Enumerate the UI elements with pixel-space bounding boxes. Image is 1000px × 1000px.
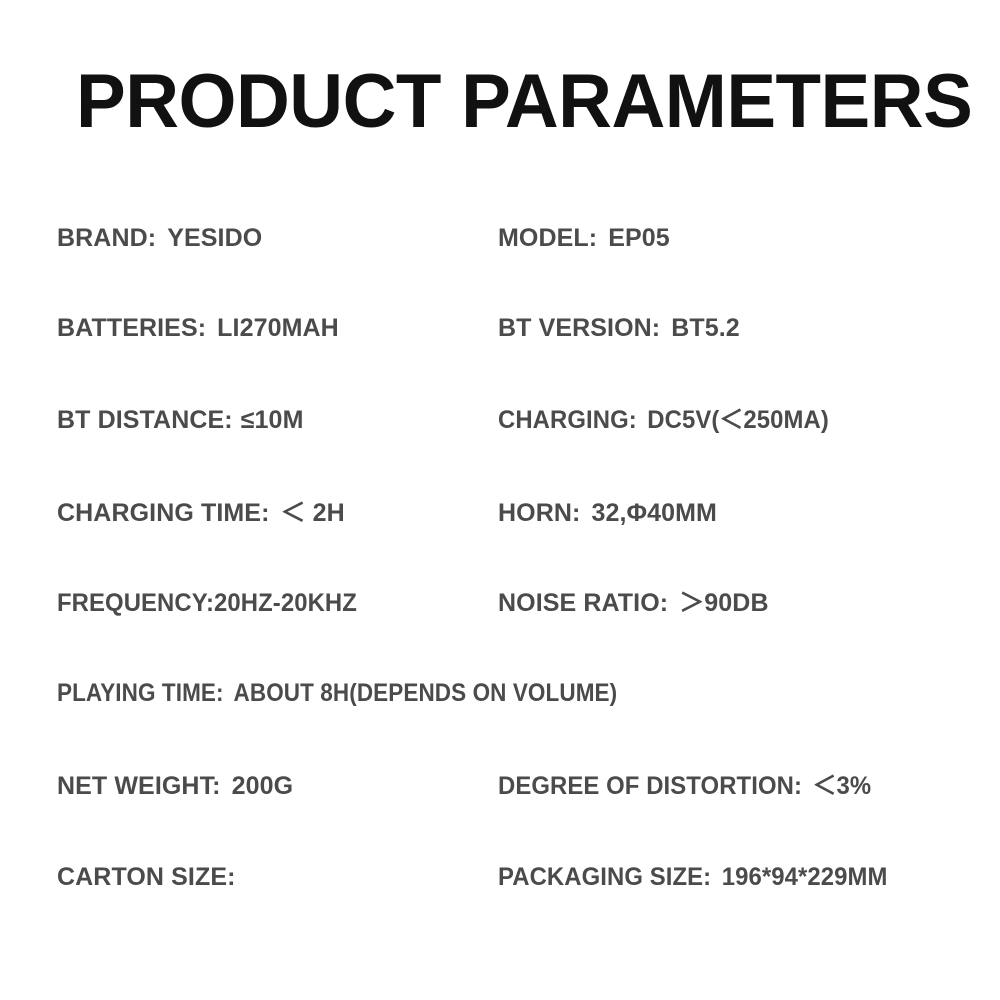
spec-value: ABOUT 8H(DEPENDS ON VOLUME) — [234, 671, 618, 715]
product-parameters-page: PRODUCT PARAMETERS BRAND: YESIDO MODEL: … — [0, 0, 1000, 1000]
spec-list: BRAND: YESIDO MODEL: EP05 BATTERIES: LI2… — [0, 198, 1000, 938]
spec-row: CHARGING TIME: ＜ 2H HORN: 32,Φ40MM — [0, 491, 1000, 535]
spec-label: CHARGING: — [498, 398, 637, 442]
spec-row: BT DISTANCE: ≤10M CHARGING: DC5V(＜250MA) — [0, 398, 1000, 442]
page-title: PRODUCT PARAMETERS — [76, 64, 954, 140]
spec-value: 196*94*229MM — [722, 855, 888, 899]
spec-item-bt-version: BT VERSION: BT5.2 — [498, 306, 740, 350]
spec-value: DC5V(＜250MA) — [647, 398, 829, 442]
spec-value: ＜3% — [813, 764, 872, 808]
spec-label: PLAYING TIME: — [57, 671, 224, 715]
spec-item-charging-time: CHARGING TIME: ＜ 2H — [57, 491, 345, 535]
spec-row: FREQUENCY:20HZ-20KHZ NOISE RATIO: ＞90DB — [0, 581, 1000, 625]
spec-row: BRAND: YESIDO MODEL: EP05 — [0, 216, 1000, 260]
spec-row: NET WEIGHT: 200G DEGREE OF DISTORTION: ＜… — [0, 764, 1000, 808]
spec-label: HORN: — [498, 491, 580, 535]
spec-item-charging: CHARGING: DC5V(＜250MA) — [498, 398, 829, 442]
spec-item-model: MODEL: EP05 — [498, 216, 670, 260]
spec-value: BT5.2 — [671, 306, 740, 350]
spec-value: EP05 — [608, 216, 670, 260]
spec-value: ＜ 2H — [281, 491, 345, 535]
spec-item-playing-time: PLAYING TIME: ABOUT 8H(DEPENDS ON VOLUME… — [57, 671, 617, 715]
spec-row: CARTON SIZE: PACKAGING SIZE: 196*94*229M… — [0, 855, 1000, 899]
spec-item-degree-of-distortion: DEGREE OF DISTORTION: ＜3% — [498, 764, 871, 808]
page-title-container: PRODUCT PARAMETERS — [76, 64, 972, 140]
spec-label: BATTERIES: — [57, 306, 206, 350]
spec-value: YESIDO — [167, 216, 262, 260]
spec-label: DEGREE OF DISTORTION: — [498, 764, 802, 808]
spec-value: 200G — [232, 764, 294, 808]
spec-label: MODEL: — [498, 216, 597, 260]
spec-label: NET WEIGHT: — [57, 764, 221, 808]
spec-value: ＞90DB — [679, 581, 768, 625]
spec-label: BT VERSION: — [498, 306, 660, 350]
spec-label: CHARGING TIME: — [57, 491, 270, 535]
spec-row: BATTERIES: LI270MAH BT VERSION: BT5.2 — [0, 306, 1000, 350]
spec-item-bt-distance: BT DISTANCE: ≤10M — [57, 398, 304, 442]
spec-value: ≤10M — [241, 398, 304, 442]
spec-label: PACKAGING SIZE: — [498, 855, 711, 899]
spec-label: FREQUENCY:20HZ-20KHZ — [57, 581, 357, 625]
spec-item-carton-size: CARTON SIZE: — [57, 855, 236, 899]
spec-label: BRAND: — [57, 216, 156, 260]
spec-label: NOISE RATIO: — [498, 581, 668, 625]
spec-item-frequency: FREQUENCY:20HZ-20KHZ — [57, 581, 357, 625]
spec-item-packaging-size: PACKAGING SIZE: 196*94*229MM — [498, 855, 887, 899]
spec-item-horn: HORN: 32,Φ40MM — [498, 491, 717, 535]
spec-item-brand: BRAND: YESIDO — [57, 216, 262, 260]
spec-item-noise-ratio: NOISE RATIO: ＞90DB — [498, 581, 769, 625]
spec-item-batteries: BATTERIES: LI270MAH — [57, 306, 339, 350]
spec-value: LI270MAH — [217, 306, 339, 350]
spec-row: PLAYING TIME: ABOUT 8H(DEPENDS ON VOLUME… — [0, 671, 1000, 715]
spec-item-net-weight: NET WEIGHT: 200G — [57, 764, 293, 808]
spec-value: 32,Φ40MM — [591, 491, 717, 535]
spec-label: BT DISTANCE: — [57, 398, 233, 442]
spec-label: CARTON SIZE: — [57, 855, 236, 899]
